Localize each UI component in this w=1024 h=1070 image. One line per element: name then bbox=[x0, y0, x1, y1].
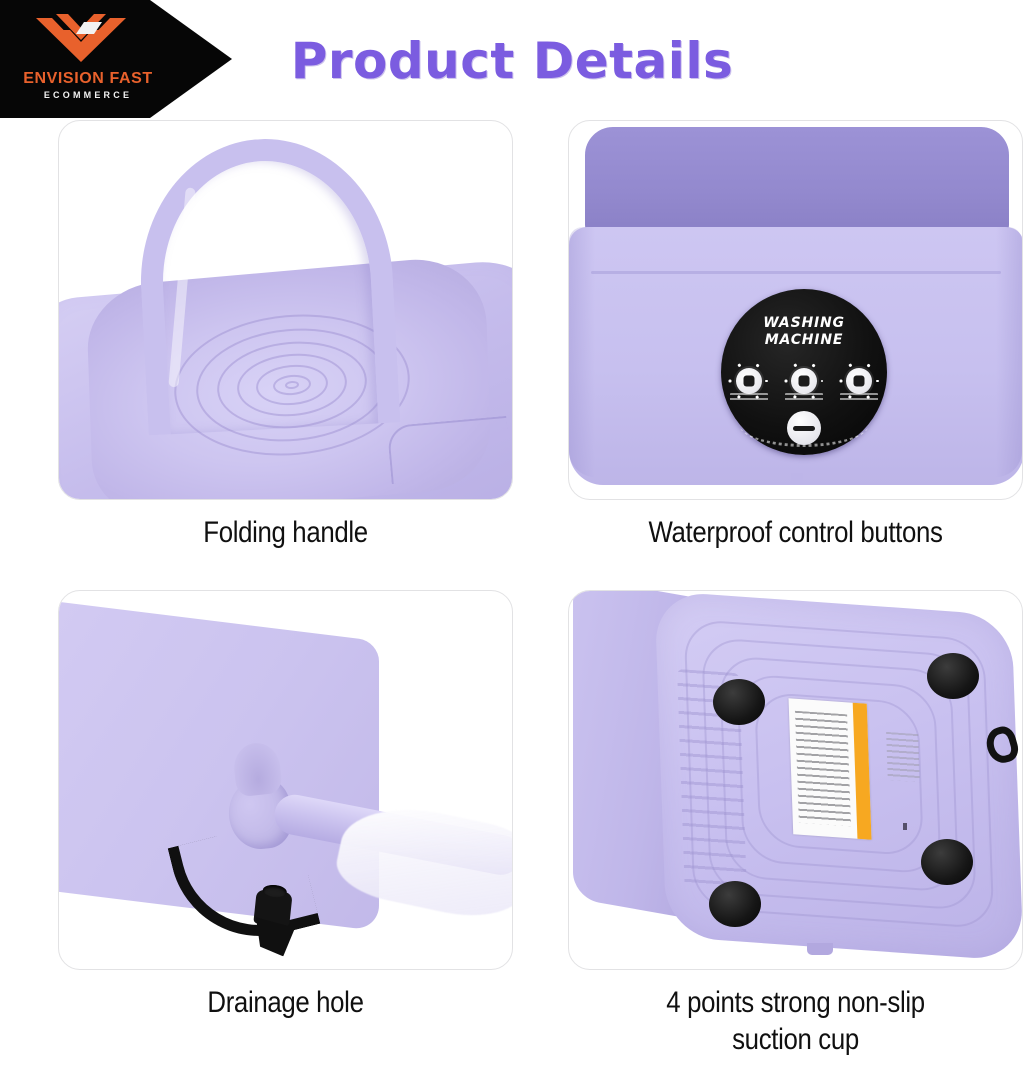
drainage-hole-illustration bbox=[59, 591, 512, 969]
body-right-shading bbox=[996, 227, 1022, 477]
label-stamp bbox=[886, 732, 920, 782]
knob-indicator-icon bbox=[743, 376, 754, 387]
feature-card-folding-handle: Folding handle bbox=[58, 120, 513, 551]
suction-cup bbox=[713, 679, 765, 725]
machine-lid bbox=[585, 127, 1009, 235]
timer-knob[interactable] bbox=[846, 368, 872, 394]
feature-caption: Drainage hole bbox=[90, 984, 481, 1021]
suction-cups-illustration bbox=[569, 591, 1022, 969]
feature-caption-line2: suction cup bbox=[732, 1023, 859, 1056]
body-left-shading bbox=[569, 227, 595, 477]
feature-image-folding-handle bbox=[58, 120, 513, 500]
feature-caption-line1: 4 points strong non-slip bbox=[666, 986, 925, 1019]
feature-card-control-buttons: WASHING MACHINE bbox=[568, 120, 1023, 551]
control-panel-title: WASHING MACHINE bbox=[721, 315, 887, 349]
feature-image-suction-cups bbox=[568, 590, 1023, 970]
knob-indicator-icon bbox=[854, 376, 865, 387]
lid-seam bbox=[387, 416, 512, 484]
control-panel-title-line1: WASHING bbox=[763, 315, 845, 331]
spin-mode-knob[interactable] bbox=[791, 368, 817, 394]
drain-button[interactable] bbox=[787, 411, 821, 445]
folding-handle bbox=[134, 133, 401, 436]
drain-valve bbox=[253, 889, 292, 927]
product-label bbox=[789, 698, 872, 839]
control-panel-title-line2: MACHINE bbox=[765, 332, 843, 348]
page-title: Product Details bbox=[0, 32, 1024, 90]
feature-image-control-buttons: WASHING MACHINE bbox=[568, 120, 1023, 500]
feature-image-drainage-hole bbox=[58, 590, 513, 970]
product-details-page: ENVISION FAST ECOMMERCE Product Details bbox=[0, 0, 1024, 1070]
suction-cup bbox=[927, 653, 979, 699]
suction-cup bbox=[709, 881, 761, 927]
page-header: ENVISION FAST ECOMMERCE Product Details bbox=[0, 0, 1024, 120]
machine-foot bbox=[807, 943, 833, 955]
control-buttons-illustration: WASHING MACHINE bbox=[569, 121, 1022, 499]
feature-card-drainage-hole: Drainage hole bbox=[58, 590, 513, 1021]
knob-indicator-icon bbox=[798, 376, 809, 387]
feature-caption: 4 points strong non-slip suction cup bbox=[600, 984, 991, 1058]
feature-caption: Waterproof control buttons bbox=[600, 514, 991, 551]
label-text-lines bbox=[795, 711, 851, 827]
folding-handle-illustration bbox=[59, 121, 512, 499]
suction-cup bbox=[921, 839, 973, 885]
wash-mode-knob[interactable] bbox=[736, 368, 762, 394]
underside-screw bbox=[903, 823, 907, 830]
knob-label bbox=[730, 393, 768, 402]
knob-label bbox=[840, 393, 878, 402]
brand-tagline: ECOMMERCE bbox=[8, 90, 168, 101]
machine-foot bbox=[791, 473, 803, 485]
control-panel[interactable]: WASHING MACHINE bbox=[721, 289, 887, 455]
feature-card-suction-cups: 4 points strong non-slip suction cup bbox=[568, 590, 1023, 1058]
feature-caption: Folding handle bbox=[90, 514, 481, 551]
